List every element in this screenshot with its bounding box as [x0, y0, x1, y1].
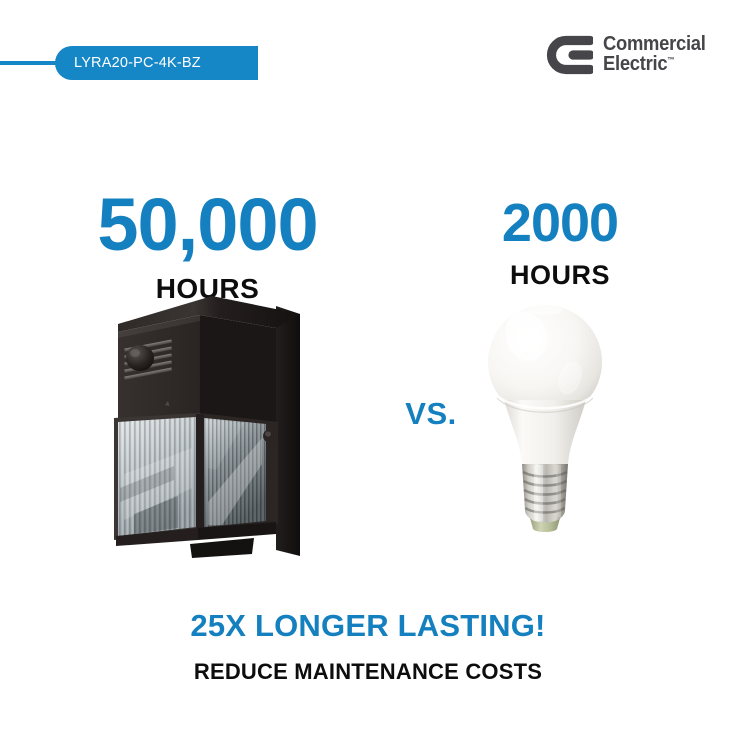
brand-logo: Commercial Electric™ — [546, 32, 715, 78]
wallpack-latch-knob — [263, 430, 277, 443]
brand-wordmark: Commercial Electric™ — [603, 35, 715, 74]
tagline-secondary: REDUCE MAINTENANCE COSTS — [0, 659, 736, 685]
stat-unit-incandescent-hours: HOURS — [412, 262, 708, 289]
wallpack-bottom-tab — [190, 538, 254, 558]
commercial-electric-logo-mark-icon — [546, 32, 593, 78]
bulb-neck — [504, 400, 586, 464]
led-wall-pack-product-image — [104, 288, 320, 566]
wallpack-backplate — [276, 306, 300, 556]
stat-block-incandescent-hours: 2000 HOURS — [412, 196, 708, 289]
tagline-primary: 25X LONGER LASTING! — [0, 608, 736, 644]
infographic-canvas: LYRA20-PC-4K-BZ Commercial Electric™ 50,… — [0, 0, 736, 736]
sku-badge-label: LYRA20-PC-4K-BZ — [55, 55, 201, 71]
wallpack-housing-right — [200, 315, 276, 424]
stat-value-led-hours: 50,000 — [0, 188, 415, 262]
wallpack-photocell-sensor-icon — [126, 345, 154, 371]
brand-wordmark-line-2: Electric™ — [603, 55, 706, 75]
light-bulb-product-image — [482, 296, 608, 540]
wallpack-lens-divider — [196, 414, 204, 530]
stat-block-led-hours: 50,000 HOURS — [0, 188, 415, 303]
versus-label: VS. — [385, 396, 477, 432]
trademark-symbol: ™ — [667, 55, 674, 64]
sku-badge-leader-line — [0, 61, 62, 65]
stat-value-incandescent-hours: 2000 — [412, 196, 708, 250]
sku-badge: LYRA20-PC-4K-BZ — [55, 46, 258, 80]
